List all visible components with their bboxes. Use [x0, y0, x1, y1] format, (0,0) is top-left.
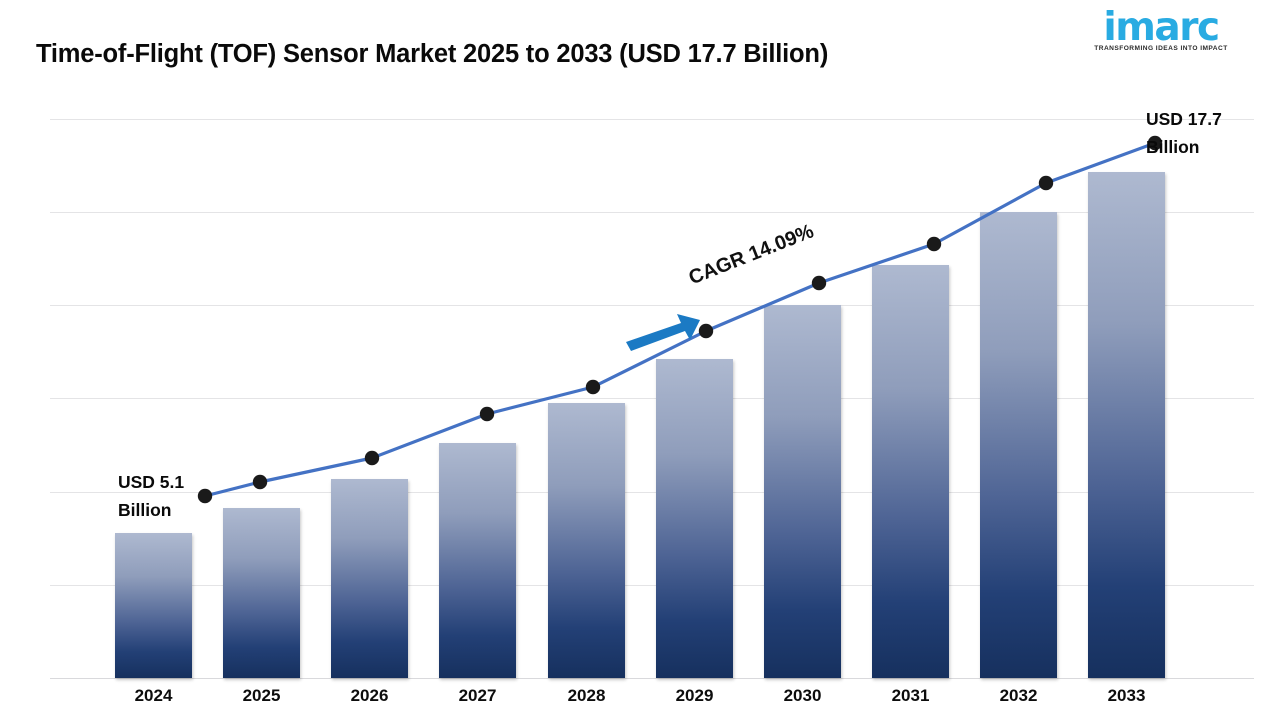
end-value-line1: USD 17.7 — [1146, 105, 1222, 133]
data-point-2031 — [927, 237, 941, 251]
x-axis-label-2025: 2025 — [209, 686, 314, 706]
start-value-callout: USD 5.1 Billion — [118, 468, 184, 524]
data-point-2025 — [253, 475, 267, 489]
end-value-callout: USD 17.7 Billion — [1146, 105, 1222, 161]
x-axis-label-2026: 2026 — [317, 686, 422, 706]
cagr-arrow-icon — [624, 306, 704, 352]
data-point-2024 — [198, 489, 212, 503]
line-series — [0, 0, 1280, 720]
chart-page: Time-of-Flight (TOF) Sensor Market 2025 … — [0, 0, 1280, 720]
start-value-line1: USD 5.1 — [118, 468, 184, 496]
x-axis-label-2029: 2029 — [642, 686, 747, 706]
start-value-line2: Billion — [118, 496, 184, 524]
data-point-2027 — [480, 407, 494, 421]
x-axis-label-2031: 2031 — [858, 686, 963, 706]
x-axis-label-2024: 2024 — [101, 686, 206, 706]
data-point-2030 — [812, 276, 826, 290]
x-axis-label-2030: 2030 — [750, 686, 855, 706]
data-point-2026 — [365, 451, 379, 465]
chart-plot-area: 2024202520262027202820292030203120322033… — [0, 0, 1280, 720]
x-axis-label-2033: 2033 — [1074, 686, 1179, 706]
x-axis-label-2032: 2032 — [966, 686, 1071, 706]
x-axis-label-2027: 2027 — [425, 686, 530, 706]
data-point-2028 — [586, 380, 600, 394]
data-point-2032 — [1039, 176, 1053, 190]
x-axis-label-2028: 2028 — [534, 686, 639, 706]
end-value-line2: Billion — [1146, 133, 1222, 161]
